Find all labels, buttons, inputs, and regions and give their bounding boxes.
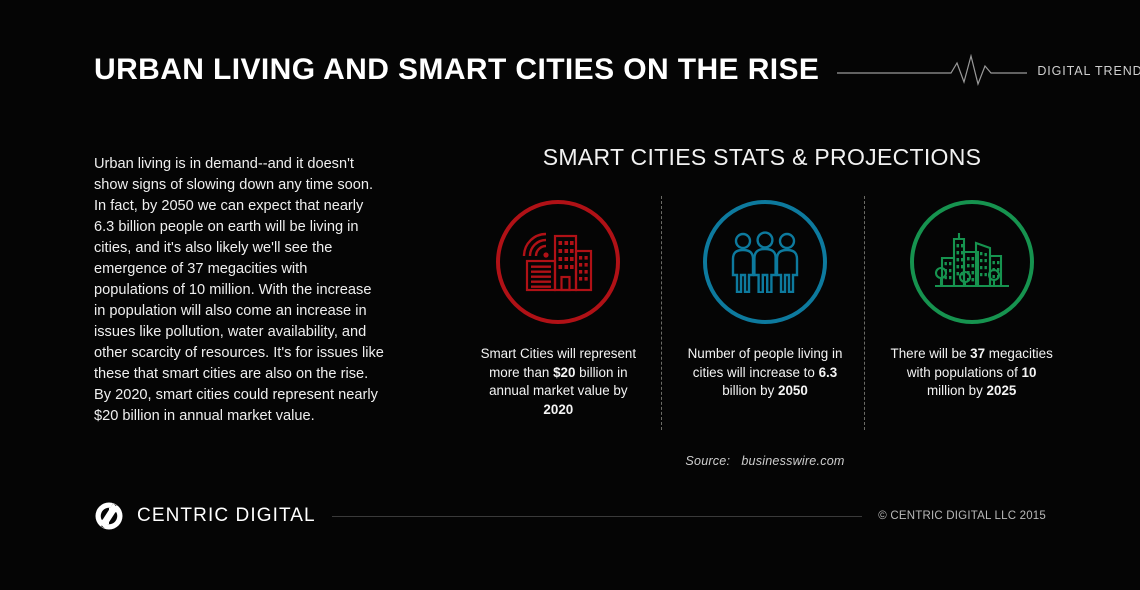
brand-tag: DIGITAL TRENDS	[1037, 64, 1140, 78]
header: URBAN LIVING AND SMART CITIES ON THE RIS…	[94, 48, 1046, 92]
stat-caption: There will be 37 megacities with populat…	[887, 345, 1057, 401]
stat-caption: Smart Cities will represent more than $2…	[473, 345, 643, 419]
smart-city-buildings-wifi-icon	[521, 231, 595, 293]
panel-heading: SMART CITIES STATS & PROJECTIONS	[440, 144, 1084, 171]
stat-item-population-in-cities: Number of people living in cities will i…	[662, 196, 869, 432]
stat-icon-circle	[496, 200, 620, 324]
stat-icon-circle	[703, 200, 827, 324]
logo-text: CENTRIC DIGITAL	[137, 505, 316, 527]
stats-row: Smart Cities will represent more than $2…	[455, 196, 1075, 432]
intro-paragraph: Urban living is in demand--and it doesn'…	[94, 154, 386, 427]
pulse-line-container: DIGITAL TRENDS	[837, 54, 1140, 88]
footer-divider	[332, 516, 863, 517]
stat-item-megacities: There will be 37 megacities with populat…	[868, 196, 1075, 432]
source-value: businesswire.com	[741, 454, 844, 468]
green-city-skyline-icon	[932, 230, 1012, 294]
source-line: Source: businesswire.com	[455, 454, 1075, 468]
footer: CENTRIC DIGITAL © CENTRIC DIGITAL LLC 20…	[94, 500, 1046, 532]
infographic-canvas: URBAN LIVING AND SMART CITIES ON THE RIS…	[0, 0, 1140, 590]
stat-icon-circle	[910, 200, 1034, 324]
source-label: Source:	[685, 454, 730, 468]
heartbeat-pulse-line-icon	[837, 54, 1027, 88]
stat-item-smart-cities-market-value: Smart Cities will represent more than $2…	[455, 196, 662, 432]
three-people-icon	[727, 231, 803, 293]
stat-caption: Number of people living in cities will i…	[680, 345, 850, 401]
copyright-text: © CENTRIC DIGITAL LLC 2015	[878, 510, 1046, 522]
centric-digital-circle-logo-icon	[94, 501, 124, 531]
page-title: URBAN LIVING AND SMART CITIES ON THE RIS…	[94, 55, 819, 85]
